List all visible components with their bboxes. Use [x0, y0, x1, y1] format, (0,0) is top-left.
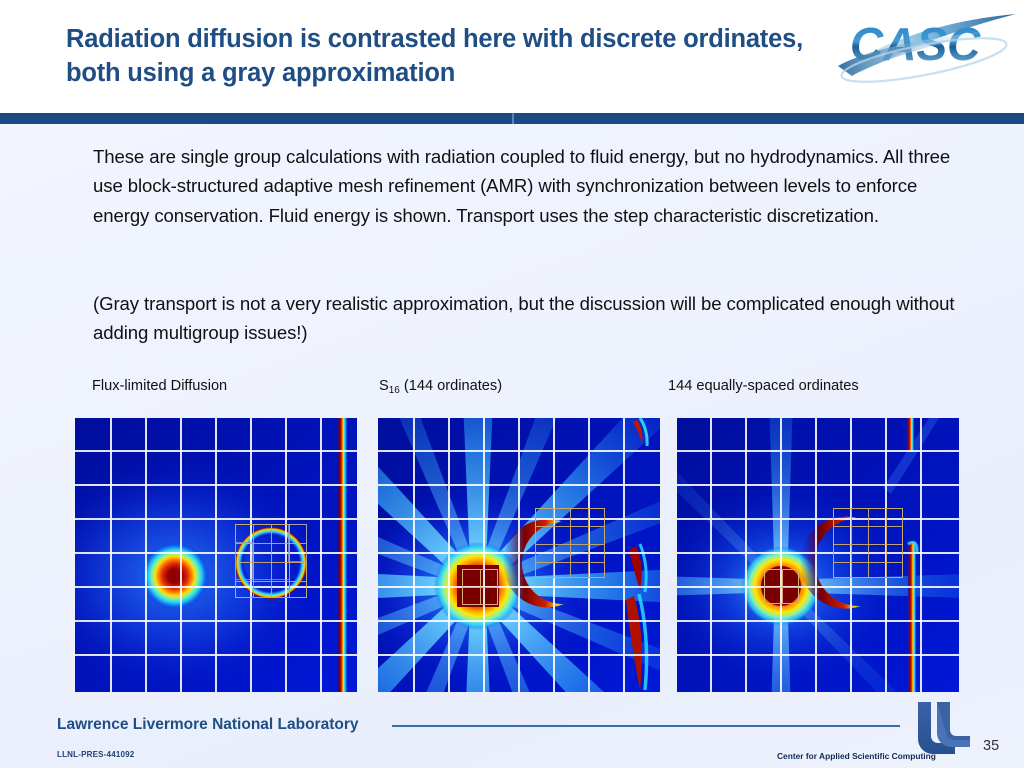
slide-header: Radiation diffusion is contrasted here w… — [0, 0, 1024, 113]
body-paragraph-1: These are single group calculations with… — [93, 142, 959, 230]
page-title: Radiation diffusion is contrasted here w… — [66, 22, 806, 90]
amr-coarse-grid-2 — [378, 418, 660, 692]
figure-caption-3-text: 144 equally-spaced ordinates — [668, 378, 859, 394]
llnl-logo — [912, 700, 976, 756]
source-refinement-patch-2 — [462, 569, 498, 605]
figure-s16-ordinates — [378, 418, 660, 692]
footer-divider-rule — [392, 725, 900, 727]
figure-flux-limited-diffusion — [75, 418, 357, 692]
page-number: 35 — [983, 738, 999, 754]
footer-document-id: LLNL-PRES-441092 — [57, 750, 134, 759]
figure-caption-2-subscript: 16 — [389, 385, 400, 396]
amr-refinement-patch-3 — [833, 508, 903, 578]
figure-caption-2-text: S — [379, 378, 389, 394]
amr-coarse-grid-3 — [677, 418, 959, 692]
amr-subblock-1c — [253, 579, 290, 598]
footer-organization: Lawrence Livermore National Laboratory — [57, 716, 358, 734]
figure-caption-3: 144 equally-spaced ordinates — [668, 378, 859, 394]
amr-refinement-patch-2 — [535, 508, 605, 578]
amr-subblock-1a — [235, 542, 253, 580]
figure-caption-2: S16 (144 ordinates) — [379, 378, 502, 394]
source-refinement-patch-3 — [764, 569, 799, 604]
figure-caption-1: Flux-limited Diffusion — [92, 378, 227, 394]
figure-caption-1-text: Flux-limited Diffusion — [92, 378, 227, 394]
amr-coarse-grid-1 — [75, 418, 357, 692]
slide: Radiation diffusion is contrasted here w… — [0, 0, 1024, 768]
figure-equally-spaced-ordinates — [677, 418, 959, 692]
header-bar-notch — [512, 113, 514, 124]
body-paragraph-2: (Gray transport is not a very realistic … — [93, 289, 959, 348]
casc-logo: CASC — [832, 6, 1018, 98]
amr-subblock-1b — [288, 524, 307, 562]
figure-caption-2-tail: (144 ordinates) — [400, 378, 502, 394]
